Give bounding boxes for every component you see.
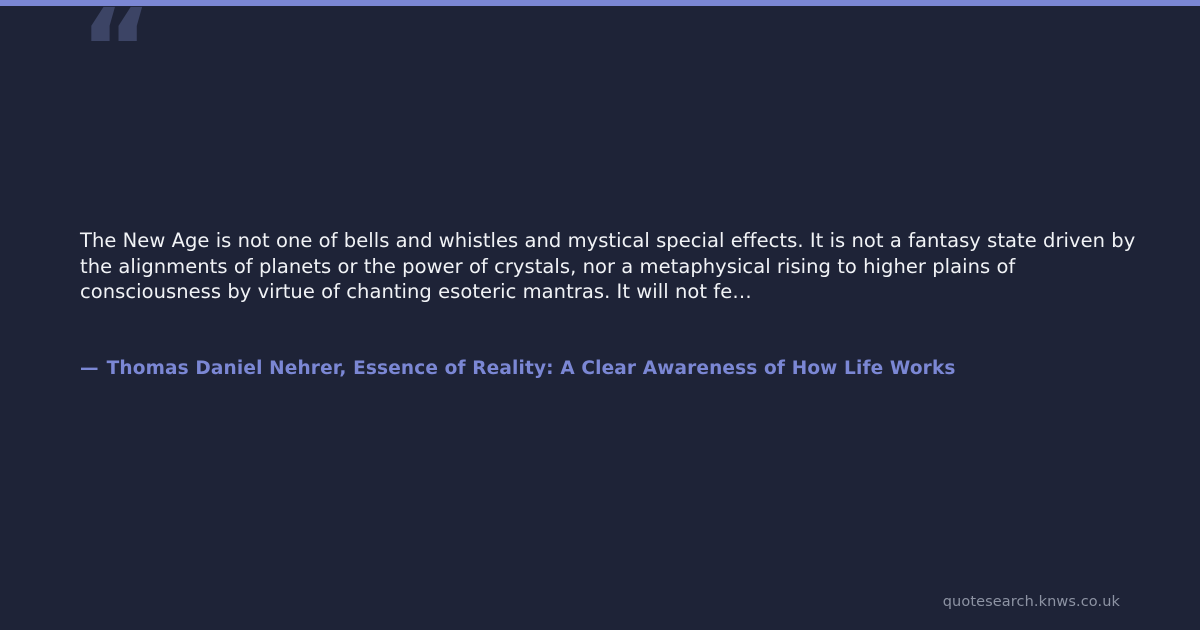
quote-card: “ The New Age is not one of bells and wh… [0, 0, 1200, 630]
quote-text: The New Age is not one of bells and whis… [80, 228, 1140, 305]
quote-attribution: —Thomas Daniel Nehrer, Essence of Realit… [80, 356, 1200, 382]
open-quote-icon: “ [80, 0, 150, 104]
attribution-text: Thomas Daniel Nehrer, Essence of Reality… [107, 358, 956, 379]
footer-site-credit: quotesearch.knws.co.uk [943, 594, 1120, 610]
attribution-dash: — [80, 358, 99, 379]
top-accent-stripe [0, 0, 1200, 6]
